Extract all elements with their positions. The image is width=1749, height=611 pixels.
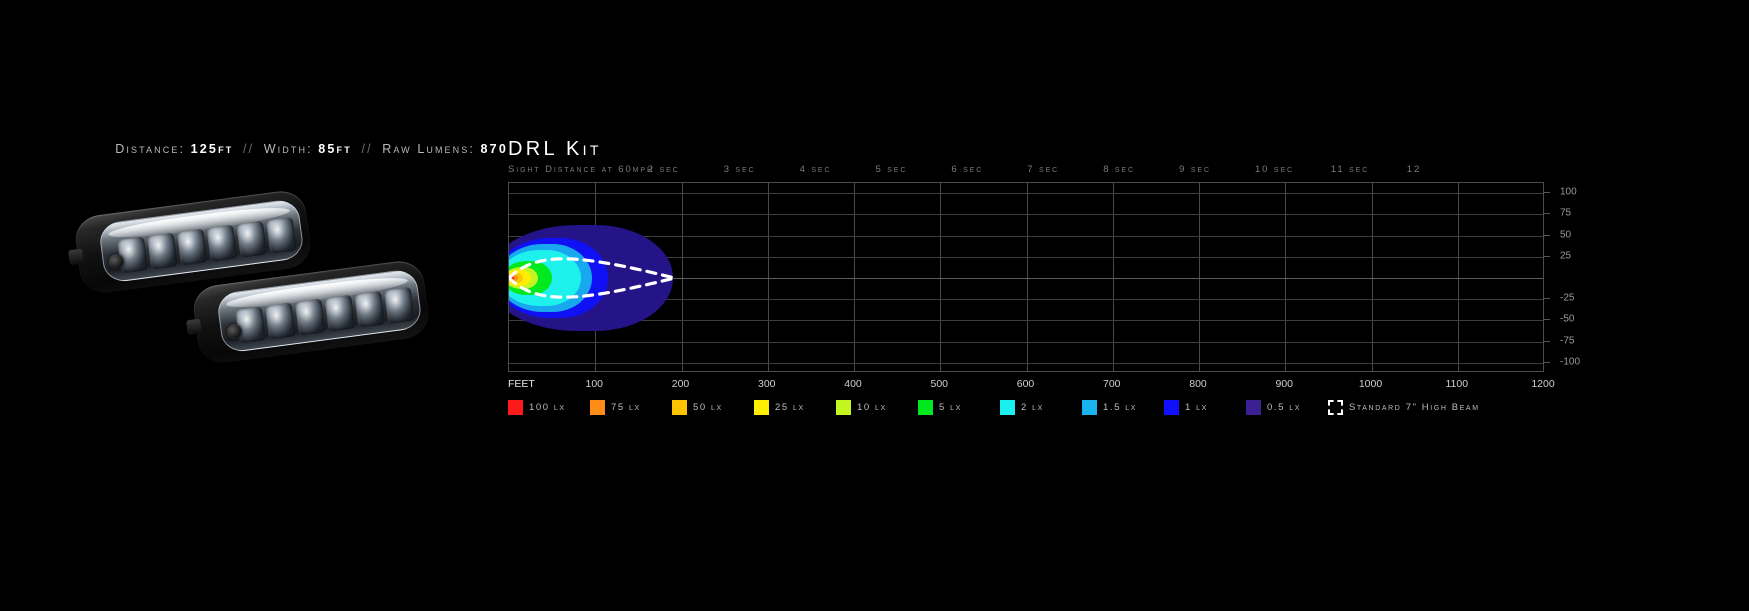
time-axis: Sight Distance at 60mph 2 sec3 sec4 sec5… [508,164,1543,178]
legend-item-10[interactable]: 10 lx [836,400,887,415]
page-title: DRL Kit [508,138,602,161]
led-module [206,225,237,262]
legend-item-high-beam[interactable]: Standard 7" High Beam [1328,400,1480,415]
x-axis-tick-label: 1100 [1445,378,1468,390]
legend-swatch [590,400,605,415]
x-axis-label: FEET [508,378,535,390]
y-axis-label: -50 [1560,314,1574,325]
legend-swatch [1328,400,1343,415]
grid-line-vertical [854,183,855,371]
time-tick-label: 12 [1407,164,1421,175]
y-axis-label: -100 [1560,356,1580,367]
legend-label: 75 lx [611,402,641,413]
stat-value-raw-lumens: 870 [481,142,508,156]
spec-summary: Distance: 125ft // Width: 85ft // Raw Lu… [115,142,508,156]
stat-separator: // [358,142,377,156]
grid-line-vertical [1027,183,1028,371]
grid-line-vertical [1372,183,1373,371]
legend-label: 1 lx [1185,402,1208,413]
y-axis-tick [1543,192,1550,193]
grid-line-horizontal [509,363,1543,364]
stat-separator: // [239,142,258,156]
stat-value-width: 85ft [318,142,352,156]
legend-item-2[interactable]: 2 lx [1000,400,1044,415]
y-axis-tick [1543,256,1550,257]
y-axis-tick [1543,319,1550,320]
plot-area [508,182,1543,372]
legend-label: 5 lx [939,402,962,413]
y-axis-label: 100 [1560,187,1577,198]
x-axis-tick-label: 600 [1017,378,1035,390]
grid-line-vertical [940,183,941,371]
stat-label-raw-lumens: Raw Lumens: [382,142,475,156]
grid-line-horizontal [509,236,1543,237]
time-tick-label: 4 sec [800,164,832,175]
legend-item-75[interactable]: 75 lx [590,400,641,415]
legend-item-50[interactable]: 50 lx [672,400,723,415]
time-tick-label: 7 sec [1027,164,1059,175]
grid-line-horizontal [509,320,1543,321]
led-module [177,229,208,266]
grid-line-horizontal [509,193,1543,194]
x-axis: FEET 10020030040050060070080090010001100… [508,378,1608,392]
legend-swatch [1164,400,1179,415]
beam-contour-100lx [508,276,514,279]
led-module [235,307,266,344]
legend-label: 50 lx [693,402,723,413]
legend-item-100[interactable]: 100 lx [508,400,566,415]
legend-swatch [1246,400,1261,415]
y-axis-label: -25 [1560,293,1574,304]
legend-label: 0.5 lx [1267,402,1301,413]
legend-item-1-5[interactable]: 1.5 lx [1082,400,1137,415]
grid-line-vertical [1199,183,1200,371]
time-tick-label: 2 sec [648,164,680,175]
time-tick-label: 3 sec [724,164,756,175]
time-tick-label: 5 sec [876,164,908,175]
x-axis-tick-label: 1000 [1359,378,1382,390]
x-axis-tick-label: 1200 [1531,378,1554,390]
legend-label: 100 lx [529,402,566,413]
y-axis-tick [1543,298,1550,299]
x-axis-tick-label: 700 [1103,378,1121,390]
time-tick-label: 11 sec [1331,164,1369,175]
legend-label: Standard 7" High Beam [1349,402,1480,413]
grid-line-horizontal [509,342,1543,343]
x-axis-tick-label: 500 [930,378,948,390]
legend-label: 25 lx [775,402,805,413]
legend-label: 2 lx [1021,402,1044,413]
legend-item-1[interactable]: 1 lx [1164,400,1208,415]
y-axis-tick [1543,235,1550,236]
sight-distance-label: Sight Distance at 60mph [508,164,654,175]
legend-swatch [754,400,769,415]
time-tick-label: 6 sec [951,164,983,175]
x-axis-tick-label: 100 [585,378,603,390]
stat-label-distance: Distance: [115,142,185,156]
beam-pattern-figure: DRL Kit Distance: 125ft // Width: 85ft /… [0,0,1749,611]
legend-label: 1.5 lx [1103,402,1137,413]
legend-swatch [1000,400,1015,415]
legend-swatch [672,400,687,415]
grid-line-vertical [682,183,683,371]
led-module [236,221,267,258]
grid-line-vertical [768,183,769,371]
y-axis-tick [1543,341,1550,342]
x-axis-tick-label: 200 [672,378,690,390]
led-module [265,303,296,340]
time-tick-label: 10 sec [1255,164,1294,175]
y-axis-label: 25 [1560,250,1571,261]
grid-line-vertical [1113,183,1114,371]
y-axis-rail [1543,182,1544,372]
legend-swatch [836,400,851,415]
led-module [324,295,355,332]
y-axis-label: 75 [1560,208,1571,219]
y-axis-label: 50 [1560,229,1571,240]
x-axis-tick-label: 400 [844,378,862,390]
legend-swatch [918,400,933,415]
led-module [295,299,326,336]
led-module [384,287,415,324]
y-axis-label: -75 [1560,335,1574,346]
stat-value-distance: 125ft [191,142,234,156]
grid-line-horizontal [509,214,1543,215]
x-axis-tick-label: 900 [1275,378,1293,390]
product-photo [55,195,445,395]
legend-item-5[interactable]: 5 lx [918,400,962,415]
legend-label: 10 lx [857,402,887,413]
x-axis-tick-label: 300 [758,378,776,390]
time-tick-label: 9 sec [1179,164,1211,175]
led-module [117,237,148,274]
legend-swatch [508,400,523,415]
grid-line-vertical [1458,183,1459,371]
legend-item-25[interactable]: 25 lx [754,400,805,415]
mount-bolt [68,249,84,266]
led-module [147,233,178,270]
legend-swatch [1082,400,1097,415]
stat-label-width: Width: [264,142,313,156]
y-axis-tick [1543,213,1550,214]
led-module [266,217,297,254]
grid-line-vertical [1285,183,1286,371]
x-axis-tick-label: 800 [1189,378,1207,390]
mount-bolt [186,319,202,336]
time-tick-label: 8 sec [1103,164,1135,175]
led-module [354,291,385,328]
legend-item-0-5[interactable]: 0.5 lx [1246,400,1301,415]
y-axis-tick [1543,362,1550,363]
